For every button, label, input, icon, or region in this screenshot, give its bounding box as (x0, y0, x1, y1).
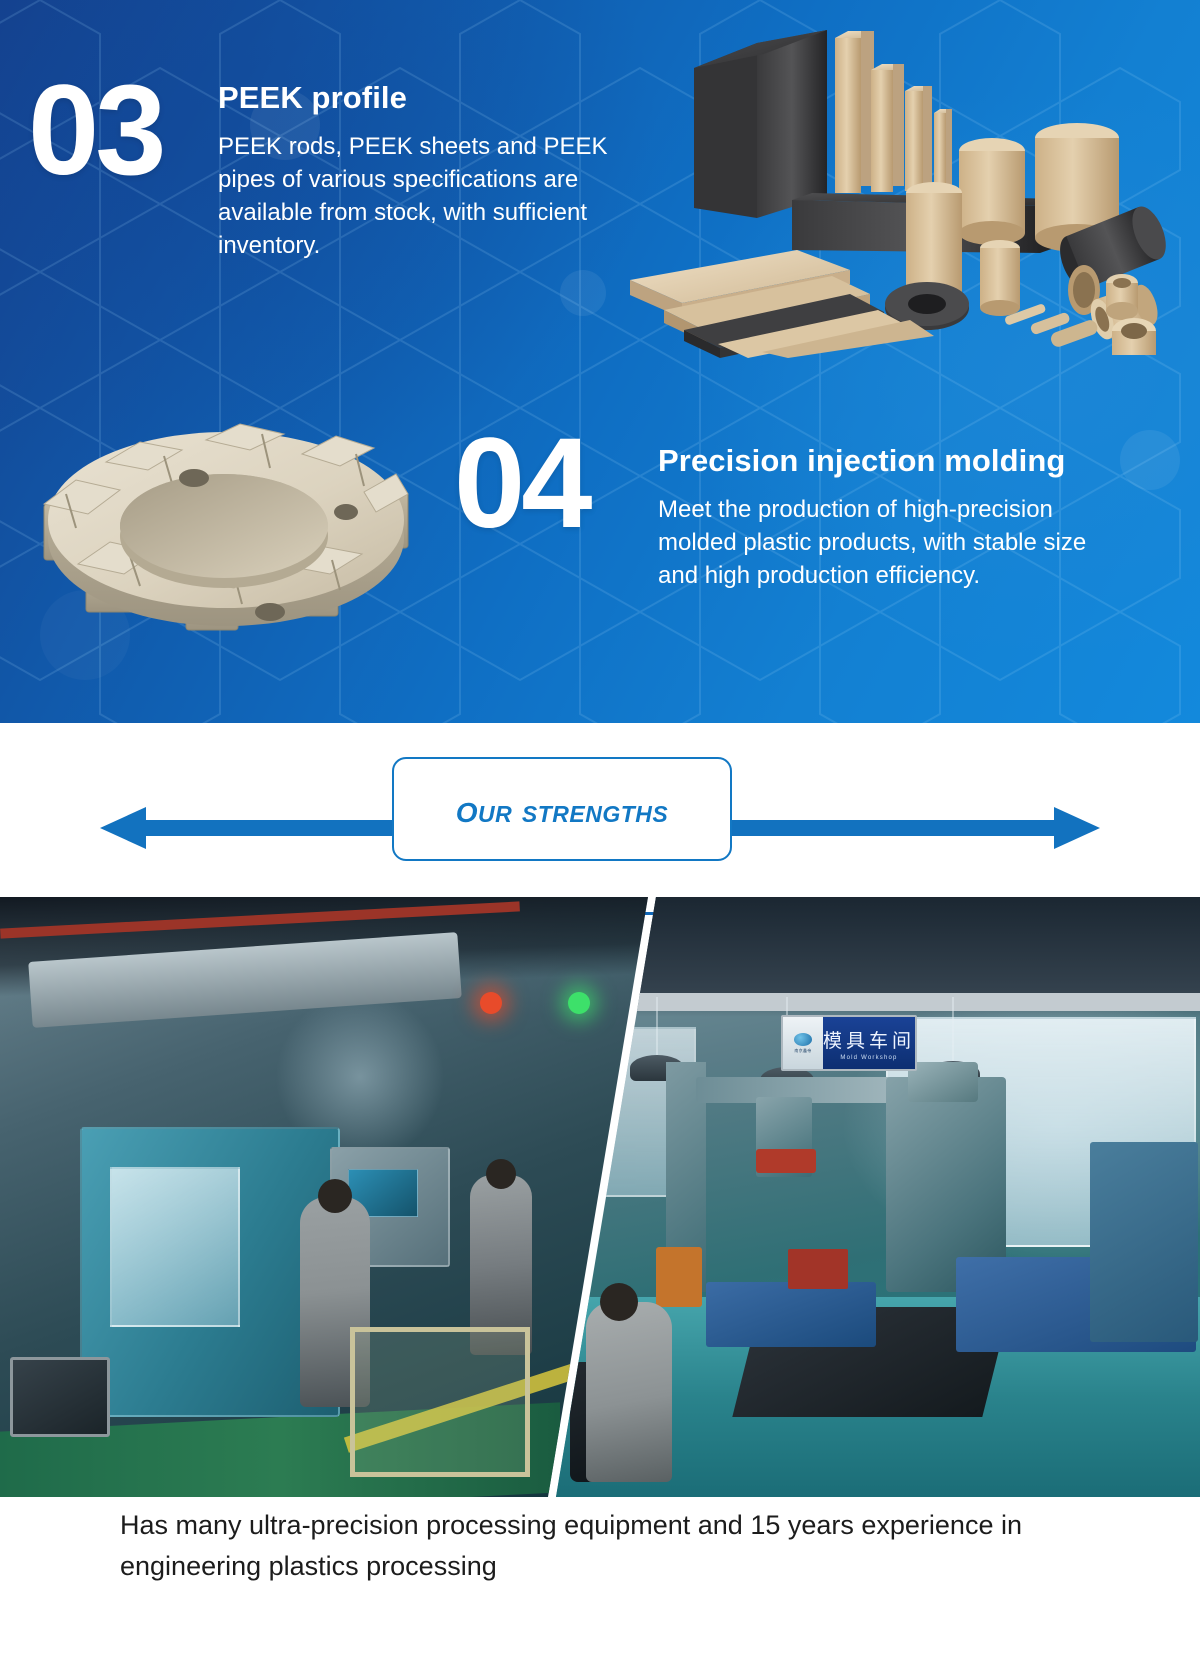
strengths-label: Our strengths (456, 787, 669, 832)
worker-head (318, 1179, 352, 1213)
sign-english-text: Mold Workshop (840, 1055, 897, 1061)
machine-window (110, 1167, 240, 1327)
feature-item-03: 03 PEEK profile PEEK rods, PEEK sheets a… (28, 72, 628, 322)
monitor (10, 1357, 110, 1437)
lamp-cord (656, 997, 658, 1057)
mill-head (908, 1062, 978, 1102)
sign-chinese-text: 模具车间 (823, 1032, 915, 1051)
red-indicator-light (480, 992, 502, 1014)
peek-gear-ring-product-image (26, 392, 426, 657)
mold-workshop-sign: 南京鑫帝 模具车间 Mold Workshop (781, 1015, 917, 1071)
product-feature-page: 03 PEEK profile PEEK rods, PEEK sheets a… (0, 0, 1200, 1664)
seated-worker-figure (586, 1302, 672, 1482)
ceiling-beam (556, 993, 1200, 1011)
feature-body-03: PEEK rods, PEEK sheets and PEEK pipes of… (218, 130, 638, 262)
feature-title-03: PEEK profile (218, 80, 638, 116)
red-tool-cabinet (788, 1249, 848, 1289)
feature-number-03: 03 (28, 72, 162, 190)
ceiling-duct (28, 932, 462, 1028)
company-logo-icon: 南京鑫帝 (783, 1017, 823, 1069)
peek-profile-product-image (622, 18, 1182, 358)
green-indicator-light (568, 992, 590, 1014)
hero-blue-panel: 03 PEEK profile PEEK rods, PEEK sheets a… (0, 0, 1200, 723)
red-machine-part (756, 1149, 816, 1173)
orange-drum (656, 1247, 702, 1307)
storage-shelf (1090, 1142, 1198, 1342)
worker-head (486, 1159, 516, 1189)
logo-mark-icon (794, 1033, 812, 1046)
factory-photos (0, 897, 1200, 1497)
work-bench (706, 1282, 876, 1347)
feature-item-04: 04 Precision injection molding Meet the … (440, 425, 1140, 645)
mold-workshop-photo (556, 897, 1200, 1497)
lamp-cord (952, 997, 954, 1063)
feature-body-04: Meet the production of high-precision mo… (658, 493, 1128, 592)
factory-caption: Has many ultra-precision processing equi… (120, 1505, 1080, 1587)
feature-number-04: 04 (454, 425, 588, 543)
sign-logo-text: 南京鑫帝 (794, 1048, 811, 1054)
ceiling (556, 897, 1200, 997)
worker-head (600, 1283, 638, 1321)
strengths-label-box: Our strengths (392, 757, 732, 861)
parts-cart (350, 1327, 530, 1477)
cnc-workshop-photo (0, 897, 648, 1497)
feature-title-04: Precision injection molding (658, 443, 1128, 479)
